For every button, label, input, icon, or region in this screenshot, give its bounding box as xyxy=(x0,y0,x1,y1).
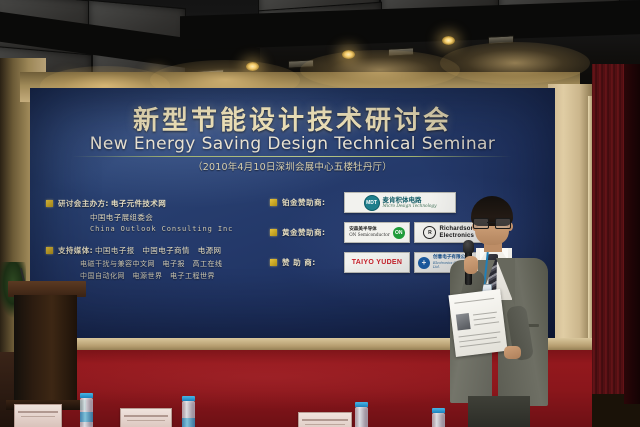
program-photo xyxy=(456,313,471,330)
hand-right xyxy=(504,346,521,359)
suit-trousers xyxy=(468,396,530,427)
bottle-body xyxy=(355,407,368,427)
podium-lectern xyxy=(14,295,77,408)
microphone-head-icon xyxy=(463,240,474,253)
eyeglasses-icon xyxy=(473,218,511,227)
ceiling-beam xyxy=(180,0,640,50)
program-text-line xyxy=(474,321,499,325)
water-bottle xyxy=(80,393,93,427)
hand-left xyxy=(464,256,478,274)
table-name-card xyxy=(298,412,352,427)
name-card-line xyxy=(21,416,55,418)
water-bottle xyxy=(182,396,195,427)
stage-curtain-shadow xyxy=(624,64,640,404)
conference-photo: 新型节能设计技术研讨会 New Energy Saving Design Tec… xyxy=(0,0,640,427)
program-text-line xyxy=(454,298,494,304)
bottle-label xyxy=(80,412,93,422)
program-text-line xyxy=(460,341,501,347)
wall-light-glow xyxy=(440,42,590,84)
name-card-line xyxy=(305,424,345,426)
program-text-line xyxy=(474,317,496,321)
speaker-figure xyxy=(438,196,562,427)
water-bottle xyxy=(355,402,368,427)
name-card-line xyxy=(127,420,165,422)
program-text-line xyxy=(473,312,497,316)
bottle-label xyxy=(182,418,195,427)
name-card-line xyxy=(302,419,348,421)
spotlight xyxy=(442,36,455,45)
name-card-line xyxy=(18,411,58,413)
wall-light-glow xyxy=(300,50,460,90)
lens-right xyxy=(495,218,511,229)
table-name-card xyxy=(120,408,172,427)
printed-program xyxy=(448,289,507,357)
lens-left xyxy=(473,218,489,229)
table-name-card xyxy=(14,404,62,427)
name-card-line xyxy=(124,415,168,417)
